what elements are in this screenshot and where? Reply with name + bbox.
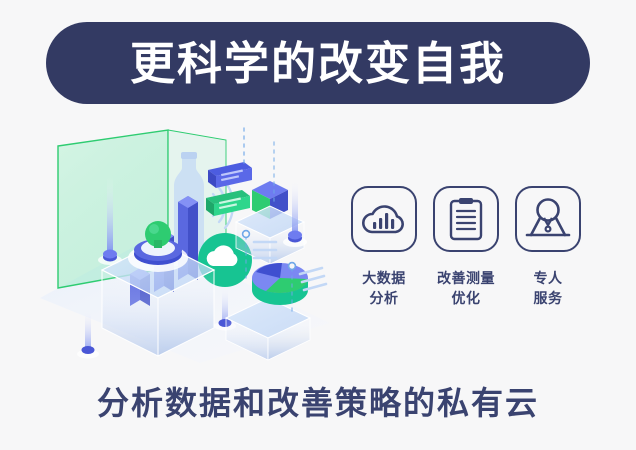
clipboard-icon: [446, 196, 486, 242]
clipboard-icon-frame: [433, 186, 499, 252]
illustration: [30, 118, 360, 363]
poster-root: 更科学的改变自我: [0, 0, 636, 450]
feature-label-big-data-analysis: 大数据 分析: [362, 268, 406, 309]
cloud-bar-chart-icon: [361, 198, 407, 240]
header-banner: 更科学的改变自我: [46, 22, 590, 104]
service-person-icon: [523, 197, 573, 241]
feature-item-dedicated-service[interactable]: 专人 服务: [514, 186, 582, 326]
service-person-icon-frame: [515, 186, 581, 252]
feature-label-measurement-optimization: 改善测量 优化: [437, 268, 495, 309]
page-title: 更科学的改变自我: [130, 41, 506, 86]
feature-label-dedicated-service: 专人 服务: [534, 268, 563, 309]
feature-item-big-data-analysis[interactable]: 大数据 分析: [350, 186, 418, 326]
feature-item-measurement-optimization[interactable]: 改善测量 优化: [432, 186, 500, 326]
footer-tagline: 分析数据和改善策略的私有云: [0, 386, 636, 421]
pie-chart: [252, 263, 308, 305]
feature-list: 大数据 分析 改善测量 优化: [350, 186, 600, 326]
gauge-pin-right: [223, 180, 229, 232]
cloud-bar-chart-icon-frame: [351, 186, 417, 252]
